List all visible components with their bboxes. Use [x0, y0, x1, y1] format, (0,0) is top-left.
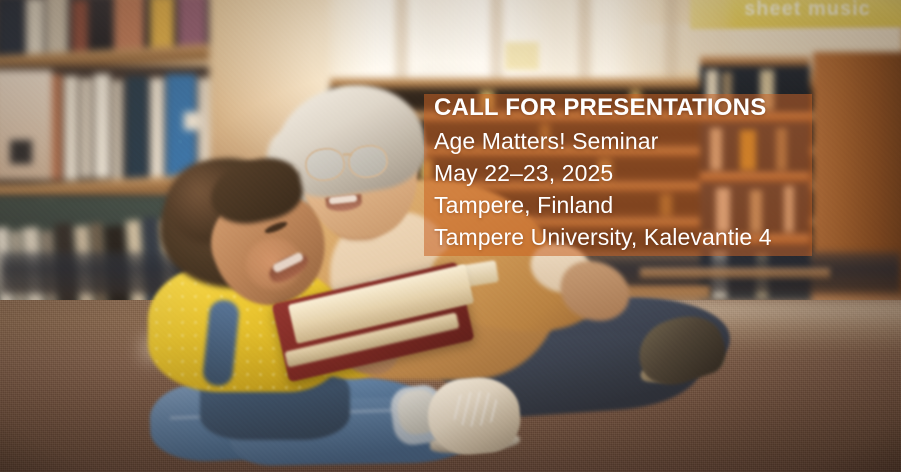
event-location: Tampere, Finland [434, 194, 834, 226]
event-details-block: CALL FOR PRESENTATIONS Age Matters! Semi… [434, 96, 834, 249]
call-for-presentations-headline: CALL FOR PRESENTATIONS [434, 96, 834, 130]
event-title: Age Matters! Seminar [434, 130, 834, 162]
woman-eyeglasses-bridge [343, 153, 352, 156]
event-dates: May 22–23, 2025 [434, 162, 834, 194]
event-venue: Tampere University, Kalevantie 4 [434, 226, 834, 249]
promotional-banner: sheet music [0, 0, 901, 472]
